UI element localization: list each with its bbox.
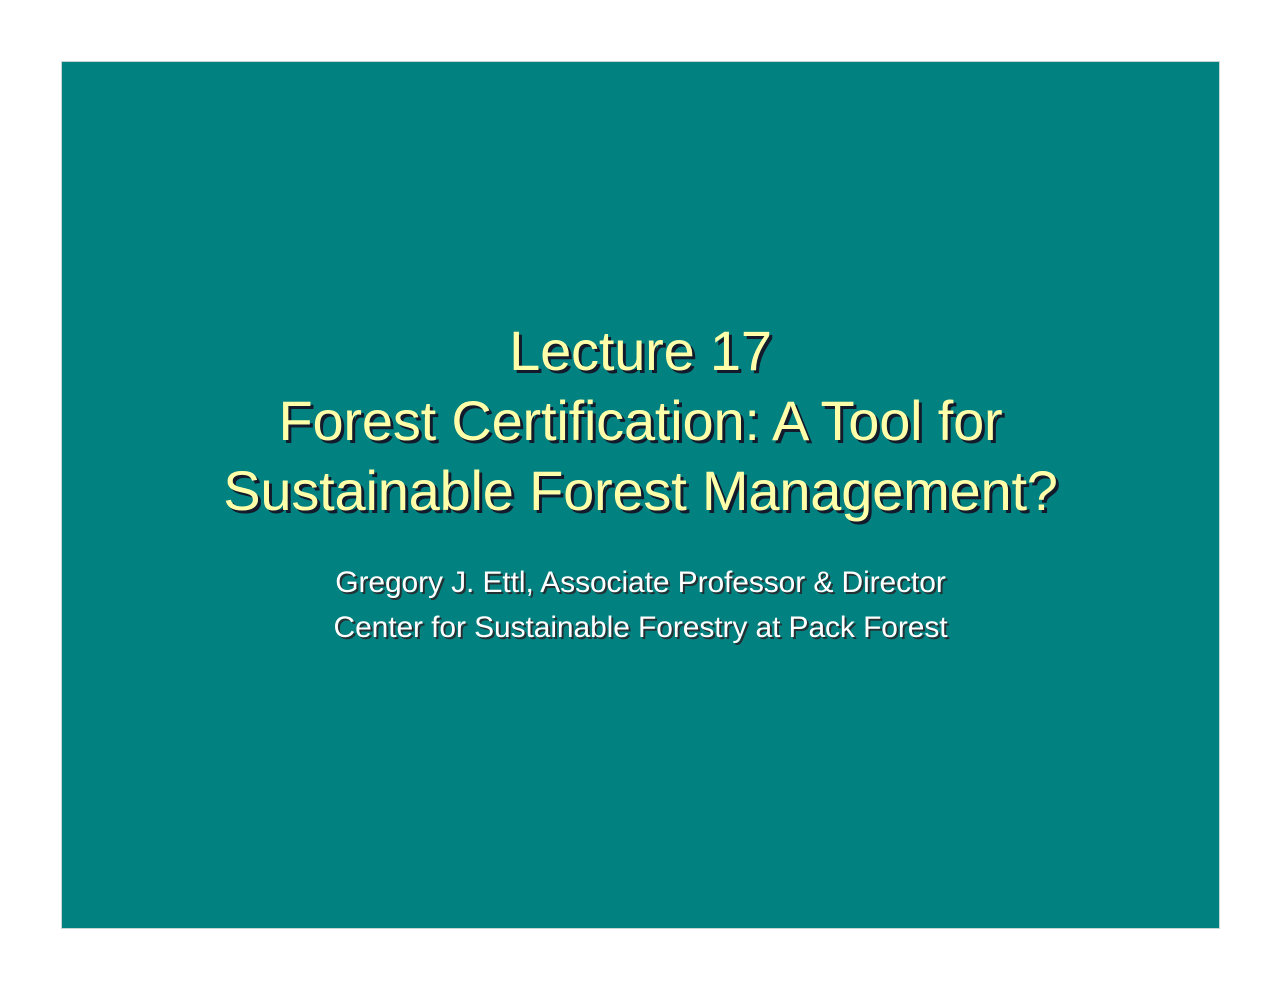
title-line-3: Sustainable Forest Management? [62,456,1219,526]
title-line-2: Forest Certification: A Tool for [62,386,1219,456]
subtitle-line-affiliation: Center for Sustainable Forestry at Pack … [62,605,1219,650]
subtitle-line-presenter: Gregory J. Ettl, Associate Professor & D… [62,560,1219,605]
title-line-1: Lecture 17 [62,316,1219,386]
presentation-slide: Lecture 17 Forest Certification: A Tool … [61,61,1220,929]
slide-page: Lecture 17 Forest Certification: A Tool … [0,0,1280,989]
slide-subtitle: Gregory J. Ettl, Associate Professor & D… [62,560,1219,650]
slide-title: Lecture 17 Forest Certification: A Tool … [62,62,1219,526]
